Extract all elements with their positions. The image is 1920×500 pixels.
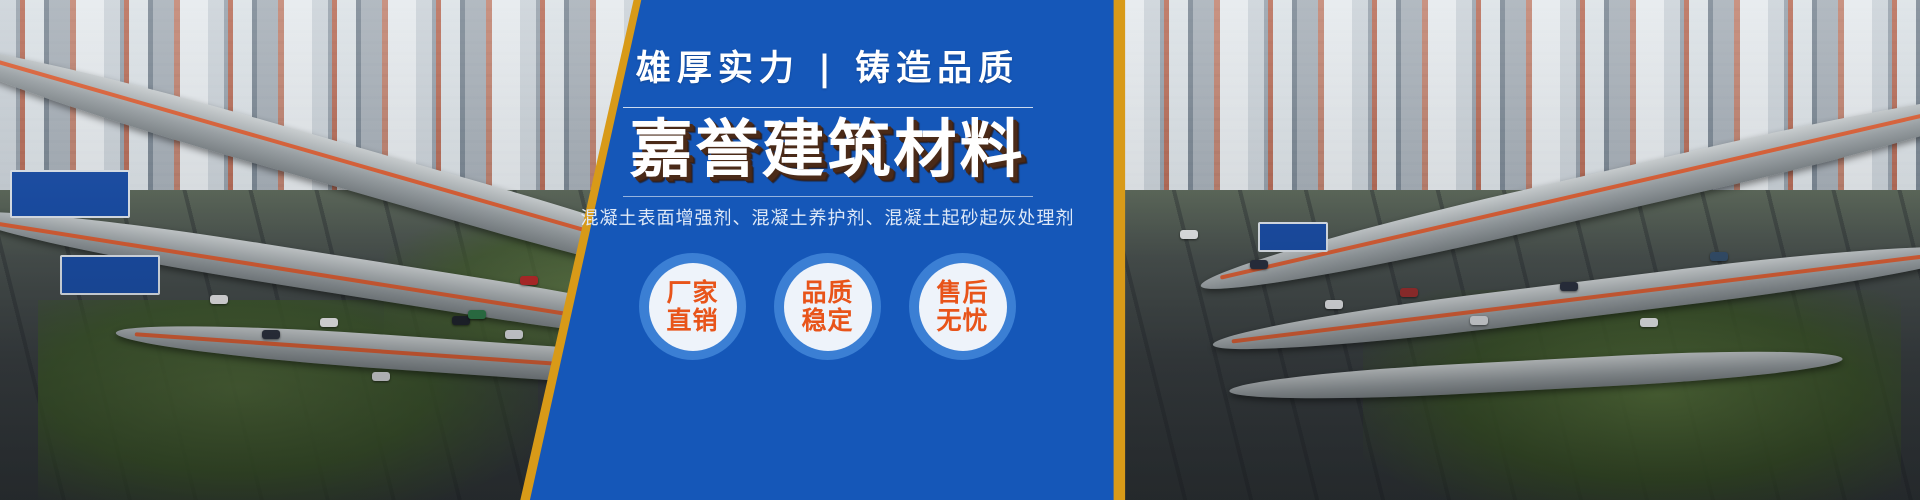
badge-after-sales[interactable]: 售后 无忧 [909, 253, 1016, 360]
panel-content: 雄厚实力 | 铸造品质 嘉誉建筑材料 混凝土表面增强剂、混凝土养护剂、混凝土起砂… [545, 0, 1110, 500]
badge-line-2: 直销 [666, 307, 718, 334]
divider-top [623, 107, 1033, 108]
company-title: 嘉誉建筑材料 [630, 116, 1026, 184]
badge-line-1: 厂家 [666, 279, 718, 306]
badge-line-2: 稳定 [801, 307, 853, 334]
tagline: 雄厚实力 | 铸造品质 [636, 52, 1019, 87]
divider-bottom [623, 196, 1033, 197]
badge-inner: 厂家 直销 [649, 263, 737, 351]
badge-inner: 售后 无忧 [919, 263, 1007, 351]
badge-inner: 品质 稳定 [784, 263, 872, 351]
badge-group: 厂家 直销 品质 稳定 售后 无忧 [639, 253, 1016, 360]
promo-banner: 雄厚实力 | 铸造品质 嘉誉建筑材料 混凝土表面增强剂、混凝土养护剂、混凝土起砂… [0, 0, 1920, 500]
badge-line-1: 品质 [801, 279, 853, 306]
badge-line-1: 售后 [936, 279, 988, 306]
badge-factory-direct[interactable]: 厂家 直销 [639, 253, 746, 360]
badge-stable-quality[interactable]: 品质 稳定 [774, 253, 881, 360]
product-subtitle: 混凝土表面增强剂、混凝土养护剂、混凝土起砂起灰处理剂 [581, 210, 1075, 228]
badge-line-2: 无忧 [936, 307, 988, 334]
